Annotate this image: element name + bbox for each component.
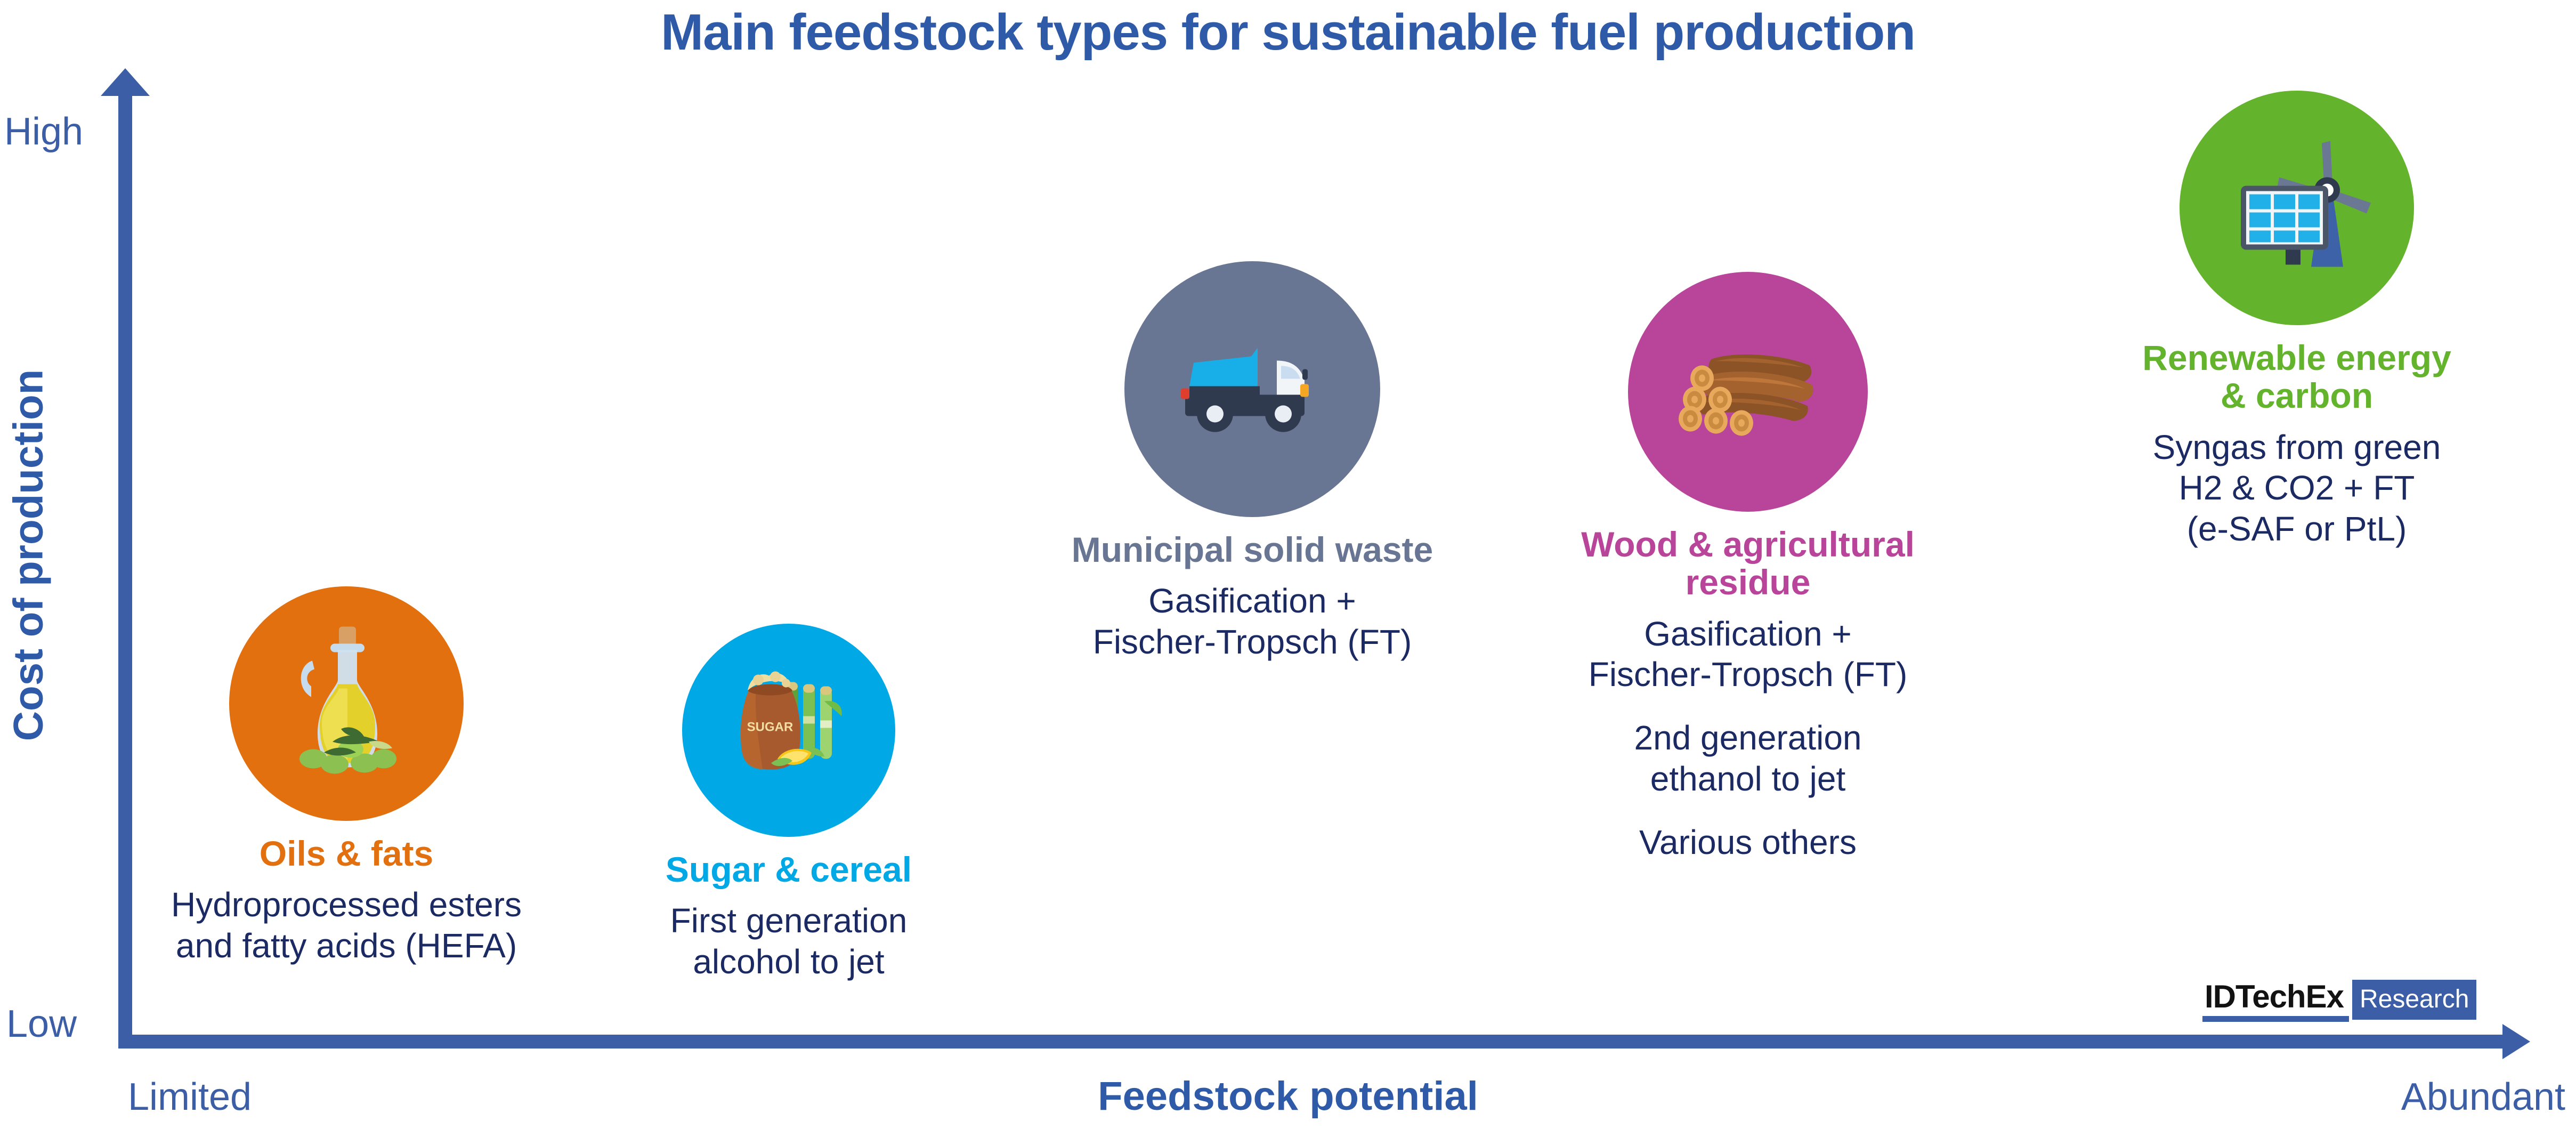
sugar-sack-icon: SUGAR: [722, 665, 855, 796]
feedstock-description-renewable: Syngas from green H2 & CO2 + FT (e-SAF o…: [2030, 427, 2563, 550]
feedstock-group-sugar: SUGAR Sugar & cereal First generation al…: [586, 624, 991, 982]
feedstock-description-wood-0: Gasification + Fischer-Tropsch (FT): [1508, 614, 1988, 696]
feedstock-bubble-wood: [1628, 272, 1868, 512]
feedstock-name-oils: Oils & fats: [133, 835, 560, 873]
y-axis-low-label: Low: [6, 1002, 77, 1046]
feedstock-group-renewable: Renewable energy & carbon Syngas from gr…: [2030, 91, 2563, 550]
x-axis-line: [118, 1035, 2506, 1049]
infographic-canvas: Main feedstock types for sustainable fue…: [0, 0, 2576, 1137]
feedstock-bubble-sugar: SUGAR: [682, 624, 895, 837]
x-axis-title: Feedstock potential: [0, 1073, 2576, 1119]
logo-underline: [2202, 1016, 2349, 1022]
wood-logs-icon: [1673, 340, 1822, 444]
feedstock-bubble-oils: [229, 586, 464, 821]
y-axis-title: Cost of production: [4, 364, 53, 747]
feedstock-group-oils: Oils & fats Hydroprocessed esters and fa…: [133, 586, 560, 966]
feedstock-name-sugar: Sugar & cereal: [586, 851, 991, 889]
x-axis-abundant-label: Abundant: [2401, 1075, 2565, 1119]
page-title: Main feedstock types for sustainable fue…: [0, 3, 2576, 62]
feedstock-description-oils: Hydroprocessed esters and fatty acids (H…: [133, 884, 560, 966]
y-axis-arrow-icon: [101, 68, 150, 96]
y-axis-high-label: High: [4, 110, 83, 154]
svg-text:SUGAR: SUGAR: [747, 720, 793, 735]
y-axis-line: [118, 92, 132, 1049]
feedstock-group-msw: Municipal solid waste Gasification + Fis…: [975, 261, 1529, 663]
feedstock-bubble-msw: [1124, 261, 1380, 517]
feedstock-group-wood: Wood & agricultural residue Gasification…: [1508, 272, 1988, 863]
x-axis-arrow-icon: [2502, 1024, 2530, 1059]
feedstock-bubble-renewable: [2180, 91, 2414, 325]
feedstock-description-msw: Gasification + Fischer-Tropsch (FT): [975, 580, 1529, 663]
feedstock-name-msw: Municipal solid waste: [975, 531, 1529, 569]
logo-wordmark: IDTechEx: [2202, 980, 2349, 1013]
solar-panel-wind-turbine-icon: [2219, 135, 2374, 281]
logo-research-badge: Research: [2352, 980, 2476, 1020]
logo-name-wrap: IDTechEx: [2202, 980, 2349, 1026]
feedstock-description-wood-1: 2nd generation ethanol to jet: [1508, 717, 1988, 800]
olive-oil-bottle-icon: [277, 623, 416, 785]
dump-truck-icon: [1172, 337, 1332, 441]
feedstock-description-sugar: First generation alcohol to jet: [586, 900, 991, 982]
feedstock-description-wood-2: Various others: [1508, 822, 1988, 863]
feedstock-name-renewable: Renewable energy & carbon: [2030, 339, 2563, 415]
feedstock-name-wood: Wood & agricultural residue: [1508, 526, 1988, 602]
idtechex-research-logo[interactable]: IDTechEx Research: [2202, 980, 2476, 1026]
